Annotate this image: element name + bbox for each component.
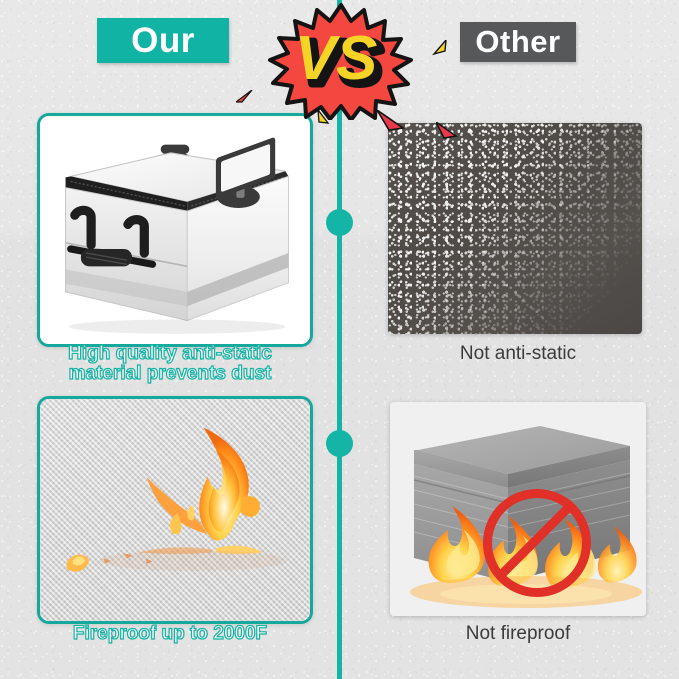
our-label-text: Our [131,21,195,61]
prohibition-sign-icon [483,489,591,597]
divider-dot-lower [326,430,353,457]
panel-our-fireproof [37,396,313,624]
dust-particles-fine-layer [388,123,642,334]
divider-dot-upper [326,209,353,236]
flame-illustration [40,399,310,620]
our-label-chip: Our [97,18,229,63]
spark-yellow-top-right [432,40,448,63]
caption-line-2: material prevents dust [20,364,320,384]
spark-red-inner-panel [436,122,458,145]
caption-other-not-fireproof: Not fireproof [368,623,668,645]
product-box-photo [40,116,310,344]
svg-text:VS: VS [295,24,378,93]
panel-our-antistatic [37,113,313,347]
versus-burst-icon: VS VS [267,2,415,120]
spark-red-bottom-left [236,90,254,109]
caption-our-fireproof: Fireproof up to 2000F [20,624,320,644]
other-label-text: Other [475,24,560,60]
caption-other-not-antistatic: Not anti-static [368,343,668,365]
caption-our-antistatic: High quality anti-static material preven… [20,344,320,384]
other-label-chip: Other [460,22,576,62]
panel-other-not-antistatic [388,123,642,334]
panel-other-not-fireproof [390,402,646,616]
caption-line-1: High quality anti-static [20,344,320,364]
product-comparison-infographic: Our Other VS VS [0,0,679,679]
